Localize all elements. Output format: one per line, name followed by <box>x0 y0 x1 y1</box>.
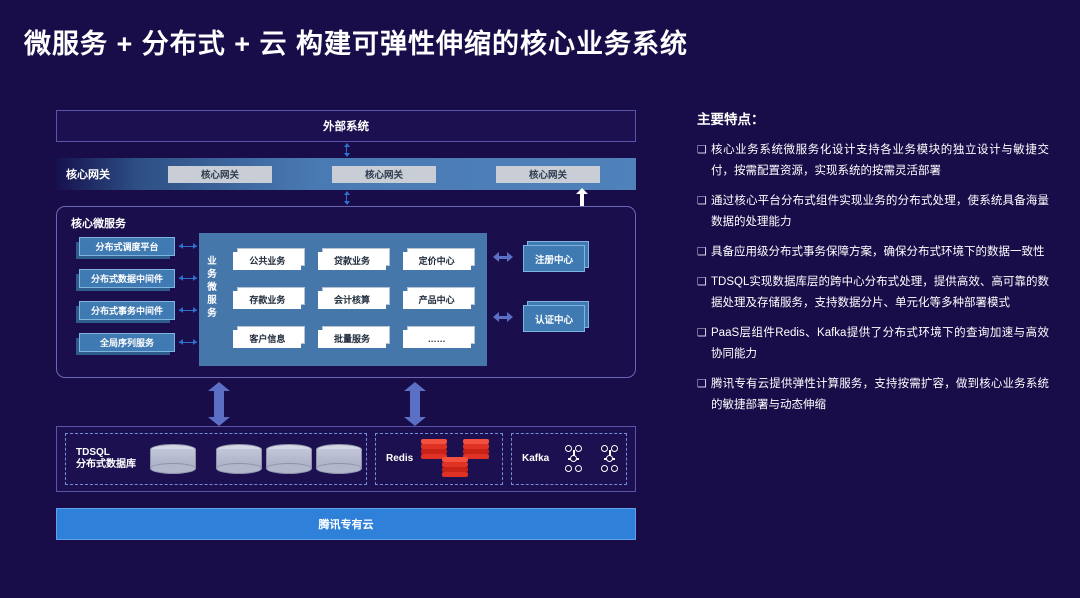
connector-gateway-core <box>342 191 351 205</box>
bullet-square-icon: ❑ <box>697 374 711 416</box>
feature-text: PaaS层组件Redis、Kafka提供了分布式环境下的查询加速与高效协同能力 <box>711 323 1049 365</box>
tdsql-label-line2: 分布式数据库 <box>76 459 136 470</box>
core-gateway-chip-list: 核心网关 核心网关 核心网关 <box>138 166 636 183</box>
page-title: 微服务 + 分布式 + 云 构建可弹性伸缩的核心业务系统 <box>24 22 688 61</box>
gateway-chip[interactable]: 核心网关 <box>332 166 436 183</box>
connector-core-data-right <box>404 382 426 426</box>
business-module[interactable]: 公共业务 <box>233 252 301 270</box>
business-module-grid: 公共业务 贷款业务 定价中心 存款业务 会计核算 产品中心 客户信息 批量服务 … <box>225 241 479 358</box>
business-module[interactable]: …… <box>403 330 471 348</box>
external-system-label: 外部系统 <box>323 118 369 134</box>
gateway-chip[interactable]: 核心网关 <box>496 166 600 183</box>
tencent-cloud-bar: 腾讯专有云 <box>56 508 636 540</box>
features-title: 主要特点： <box>697 108 1049 128</box>
tdsql-cell: TDSQL 分布式数据库 <box>65 433 367 485</box>
feature-item: ❑ 腾讯专有云提供弹性计算服务，支持按需扩容，做到核心业务系统的敏捷部署与动态伸… <box>697 374 1049 416</box>
business-module[interactable]: 存款业务 <box>233 291 301 309</box>
feature-item: ❑ 核心业务系统微服务化设计支持各业务模块的独立设计与敏捷交付，按需配置资源，实… <box>697 140 1049 182</box>
redis-cell: Redis <box>375 433 503 485</box>
connector-business-registry <box>493 252 513 263</box>
database-cylinder-icon <box>216 444 262 474</box>
service-box-transaction-middleware[interactable]: 分布式事务中间件 <box>79 301 175 320</box>
bullet-square-icon: ❑ <box>697 242 711 263</box>
database-cylinder-icon <box>316 444 362 474</box>
connector-service-business <box>179 246 197 247</box>
redis-cube-icon <box>442 457 468 479</box>
architecture-diagram: 外部系统 核心网关 核心网关 核心网关 核心网关 核心微服务 分布式调度平台 分… <box>56 110 638 545</box>
feature-item: ❑ TDSQL实现数据库层的跨中心分布式处理，提供高效、高可靠的数据处理及存储服… <box>697 272 1049 314</box>
connector-external-gateway <box>342 143 351 157</box>
kafka-cell: Kafka <box>511 433 627 485</box>
features-panel: 主要特点： ❑ 核心业务系统微服务化设计支持各业务模块的独立设计与敏捷交付，按需… <box>697 108 1049 425</box>
auth-center-box[interactable]: 认证中心 <box>523 305 585 332</box>
bullet-square-icon: ❑ <box>697 272 711 314</box>
kafka-node-icon <box>599 445 621 473</box>
kafka-icon-group <box>563 445 621 473</box>
redis-label: Redis <box>386 453 413 465</box>
feature-text: 核心业务系统微服务化设计支持各业务模块的独立设计与敏捷交付，按需配置资源，实现系… <box>711 140 1049 182</box>
data-layer-container: TDSQL 分布式数据库 Redis <box>56 426 636 492</box>
business-microservice-label: 业务微服务 <box>205 255 219 320</box>
business-module[interactable]: 产品中心 <box>403 291 471 309</box>
business-module[interactable]: 会计核算 <box>318 291 386 309</box>
bullet-square-icon: ❑ <box>697 140 711 182</box>
feature-text: TDSQL实现数据库层的跨中心分布式处理，提供高效、高可靠的数据处理及存储服务，… <box>711 272 1049 314</box>
core-gateway-label: 核心网关 <box>66 166 138 182</box>
core-gateway-bar: 核心网关 核心网关 核心网关 核心网关 <box>56 158 636 190</box>
feature-item: ❑ 通过核心平台分布式组件实现业务的分布式处理，使系统具备海量数据的处理能力 <box>697 191 1049 233</box>
tdsql-label-line1: TDSQL <box>76 447 110 458</box>
database-cylinder-icon <box>150 444 196 474</box>
feature-text: 通过核心平台分布式组件实现业务的分布式处理，使系统具备海量数据的处理能力 <box>711 191 1049 233</box>
registry-center-box[interactable]: 注册中心 <box>523 245 585 272</box>
kafka-label: Kafka <box>522 453 549 465</box>
feature-text: 腾讯专有云提供弹性计算服务，支持按需扩容，做到核心业务系统的敏捷部署与动态伸缩 <box>711 374 1049 416</box>
business-microservice-block: 业务微服务 公共业务 贷款业务 定价中心 存款业务 会计核算 产品中心 客户信息… <box>199 233 487 366</box>
core-microservice-title: 核心微服务 <box>71 215 126 231</box>
business-module[interactable]: 贷款业务 <box>318 252 386 270</box>
connector-service-business <box>179 310 197 311</box>
database-cylinder-icon <box>266 444 312 474</box>
service-box-scheduling[interactable]: 分布式调度平台 <box>79 237 175 256</box>
connector-core-data-left <box>208 382 230 426</box>
database-cylinder-group <box>150 444 366 474</box>
bullet-square-icon: ❑ <box>697 191 711 233</box>
gateway-chip[interactable]: 核心网关 <box>168 166 272 183</box>
business-module[interactable]: 批量服务 <box>318 330 386 348</box>
kafka-node-icon <box>563 445 585 473</box>
tencent-cloud-label: 腾讯专有云 <box>319 516 374 532</box>
service-box-global-sequence[interactable]: 全局序列服务 <box>79 333 175 352</box>
service-box-data-middleware[interactable]: 分布式数据中间件 <box>79 269 175 288</box>
bullet-square-icon: ❑ <box>697 323 711 365</box>
redis-icon-group <box>419 437 491 481</box>
business-module[interactable]: 定价中心 <box>403 252 471 270</box>
business-module[interactable]: 客户信息 <box>233 330 301 348</box>
external-system-box: 外部系统 <box>56 110 636 142</box>
feature-text: 具备应用级分布式事务保障方案，确保分布式环境下的数据一致性 <box>711 242 1049 263</box>
core-microservice-panel: 核心微服务 分布式调度平台 分布式数据中间件 分布式事务中间件 全局序列服务 业… <box>56 206 636 378</box>
tdsql-label: TDSQL 分布式数据库 <box>76 447 136 471</box>
slide-root: 微服务 + 分布式 + 云 构建可弹性伸缩的核心业务系统 外部系统 核心网关 核… <box>0 0 1080 598</box>
connector-service-business <box>179 278 197 279</box>
feature-item: ❑ 具备应用级分布式事务保障方案，确保分布式环境下的数据一致性 <box>697 242 1049 263</box>
connector-business-auth <box>493 312 513 323</box>
connector-service-business <box>179 342 197 343</box>
feature-item: ❑ PaaS层组件Redis、Kafka提供了分布式环境下的查询加速与高效协同能… <box>697 323 1049 365</box>
